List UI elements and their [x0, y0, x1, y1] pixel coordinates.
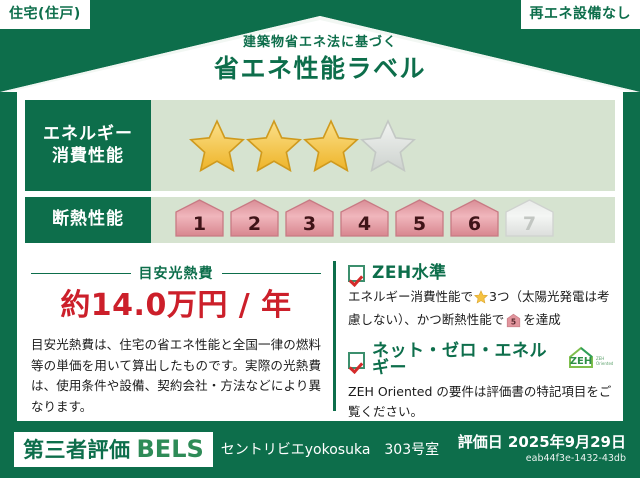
svg-text:6: 6: [468, 213, 481, 235]
star-icon: [474, 290, 488, 310]
energy-caption-line1: エネルギー: [43, 124, 133, 144]
star-icon-filled: [246, 118, 302, 174]
bels-logo-jp: 第三者評価: [23, 440, 131, 461]
svg-text:ZEH: ZEH: [570, 356, 592, 367]
check-icon-net-zero: [348, 352, 365, 369]
insulation-performance-value: 1234567: [151, 197, 615, 243]
evaluation-uid: eab44f3e-1432-43db: [458, 453, 626, 465]
house-icon-filled: 4: [338, 197, 391, 243]
zeh-body-post: を達成: [523, 312, 561, 327]
house-icon-filled: 5: [393, 197, 446, 243]
star-rating: [151, 118, 416, 174]
insulation-performance-row: 断熱性能 1234567: [25, 197, 615, 243]
energy-performance-label: 住宅(住戸) 再エネ設備なし 建築物省エネ法に基づく 省エネ性能ラベル エネルギ…: [0, 0, 640, 478]
zeh-standard-body: エネルギー消費性能で3つ（太陽光発電は考慮しない）、かつ断熱性能で5を達成: [348, 287, 613, 334]
svg-text:Oriented: Oriented: [596, 361, 613, 366]
svg-text:5: 5: [511, 317, 516, 326]
svg-text:5: 5: [413, 213, 426, 235]
house-icon-filled: 2: [228, 197, 281, 243]
net-zero-energy-block: ネット・ゼロ・エネルギー ZEH ZEH Oriented ZEH Orient…: [348, 343, 613, 422]
property-name: セントリビエyokosuka 303号室: [221, 443, 439, 457]
bels-logo: 第三者評価 BELS: [14, 432, 213, 467]
star-icon-filled: [303, 118, 359, 174]
tag-renewable-equipment: 再エネ設備なし: [521, 0, 640, 29]
utility-cost-column: 目安光熱費 約14.0万円 / 年 目安光熱費は、住宅の省エネ性能と全国一律の燃…: [17, 255, 333, 421]
zeh-standard-block: ZEH水準 エネルギー消費性能で3つ（太陽光発電は考慮しない）、かつ断熱性能で5…: [348, 265, 613, 334]
evaluation-info: 評価日 2025年9月29日 eab44f3e-1432-43db: [458, 434, 626, 465]
check-icon-zeh-standard: [348, 265, 365, 282]
energy-performance-value: [151, 100, 615, 191]
zeh-standard-title: ZEH水準: [372, 265, 447, 282]
rule-right: [222, 273, 322, 274]
svg-text:7: 7: [523, 213, 536, 235]
house-icon-filled: 3: [283, 197, 336, 243]
svg-text:3: 3: [303, 213, 316, 235]
rule-left: [31, 273, 131, 274]
svg-text:1: 1: [193, 213, 206, 235]
star-icon-empty: [360, 118, 416, 174]
star-icon-filled: [189, 118, 245, 174]
net-zero-title: ネット・ゼロ・エネルギー: [372, 343, 557, 377]
energy-performance-row: エネルギー 消費性能: [25, 100, 615, 191]
net-zero-title-row: ネット・ゼロ・エネルギー ZEH ZEH Oriented: [348, 343, 613, 377]
zeh-logo: ZEH ZEH Oriented: [567, 345, 613, 375]
standards-column: ZEH水準 エネルギー消費性能で3つ（太陽光発電は考慮しない）、かつ断熱性能で5…: [336, 255, 623, 421]
svg-text:4: 4: [358, 213, 371, 235]
net-zero-body: ZEH Oriented の要件は評価書の特記項目をご覧ください。: [348, 382, 613, 422]
evaluation-date: 評価日 2025年9月29日: [458, 434, 626, 451]
insulation-performance-caption: 断熱性能: [25, 197, 151, 243]
house-level-icon: 5: [506, 313, 521, 334]
tag-building-type: 住宅(住戸): [0, 0, 90, 29]
utility-cost-amount: 約14.0万円 / 年: [31, 291, 321, 321]
house-icon-filled: 6: [448, 197, 501, 243]
utility-cost-heading-text: 目安光熱費: [139, 263, 214, 283]
energy-performance-caption: エネルギー 消費性能: [25, 100, 151, 191]
zeh-standard-title-row: ZEH水準: [348, 265, 613, 282]
energy-caption-line2: 消費性能: [52, 146, 124, 166]
house-icon-filled: 1: [173, 197, 226, 243]
svg-text:2: 2: [248, 213, 261, 235]
house-rating: 1234567: [151, 197, 556, 243]
utility-cost-heading: 目安光熱費: [31, 263, 321, 283]
house-icon-empty: 7: [503, 197, 556, 243]
detail-columns: 目安光熱費 約14.0万円 / 年 目安光熱費は、住宅の省エネ性能と全国一律の燃…: [17, 255, 623, 421]
bels-logo-en: BELS: [137, 437, 204, 461]
label-card: エネルギー 消費性能 断熱性能 1234567 目安光熱費: [17, 92, 623, 421]
zeh-body-pre: エネルギー消費性能で: [348, 289, 473, 304]
label-footer: 第三者評価 BELS セントリビエyokosuka 303号室 評価日 2025…: [0, 421, 640, 478]
utility-cost-note: 目安光熱費は、住宅の省エネ性能と全国一律の燃料等の単価を用いて算出したものです。…: [31, 335, 321, 418]
